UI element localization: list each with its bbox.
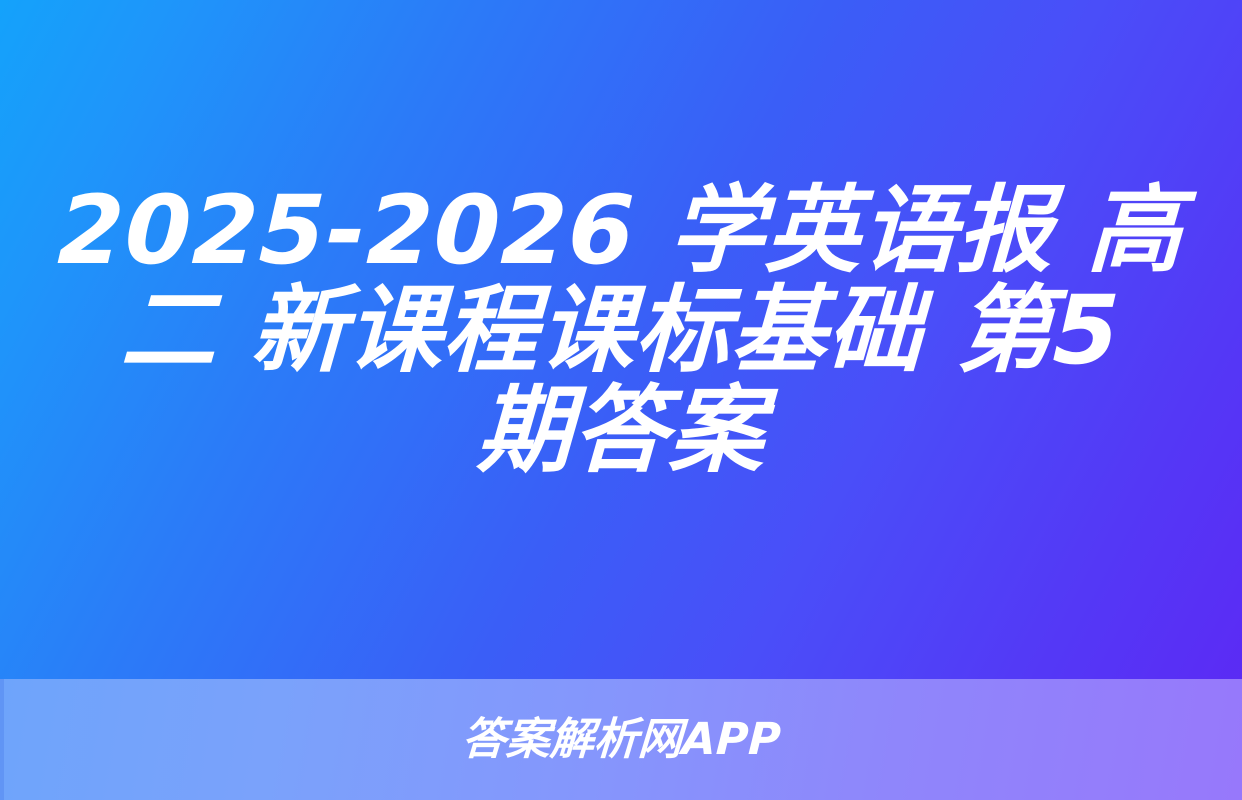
footer-brand-band: 答案解析网APP (0, 679, 1242, 800)
headline-line-1: 2025-2026 学英语报 高 (57, 181, 1186, 281)
headline-line-3: 期答案 (475, 381, 767, 481)
headline-block: 2025-2026 学英语报 高 二 新课程课标基础 第5 期答案 (0, 0, 1242, 679)
poster-canvas: 2025-2026 学英语报 高 二 新课程课标基础 第5 期答案 答案解析网A… (0, 0, 1242, 800)
headline-line-2: 二 新课程课标基础 第5 (120, 281, 1123, 381)
footer-brand-label: 答案解析网APP (460, 716, 781, 764)
